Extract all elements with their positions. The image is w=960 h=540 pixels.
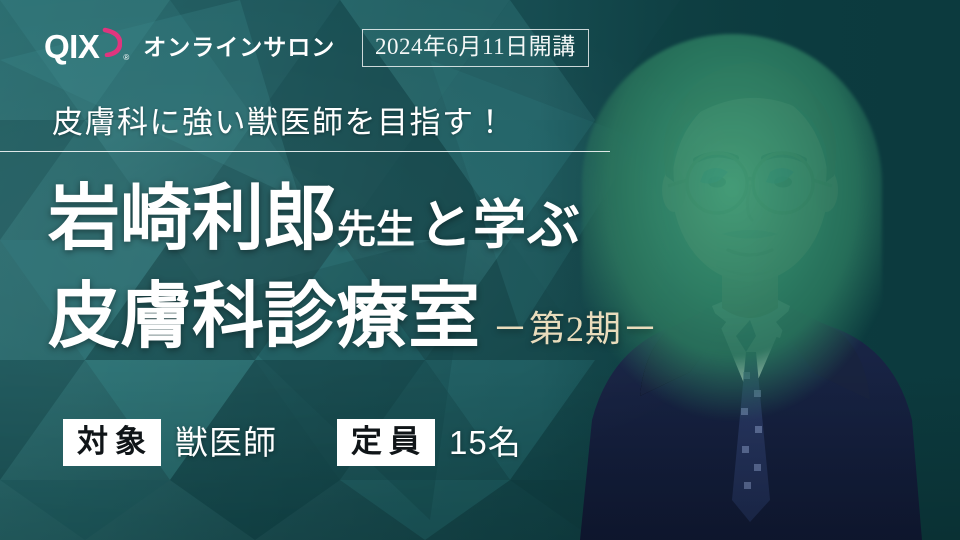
promo-banner: QIX ® オンラインサロン 2024年6月11日開講 皮膚科に強い獣医師を目指… (0, 0, 960, 540)
sub-headline: 皮膚科に強い獣医師を目指す！ (52, 104, 507, 141)
start-date-badge: 2024年6月11日開講 (362, 29, 589, 67)
instructor-name: 岩崎利郎 (48, 183, 336, 255)
headline-with-learn: と学ぶ (419, 200, 581, 253)
headline-line-2: 皮膚科診療室 －第2期－ (48, 281, 659, 353)
registered-mark-icon: ® (123, 54, 129, 62)
course-info-row: 対象 獣医師 定員 15名 (63, 419, 522, 466)
info-value-capacity: 15名 (449, 426, 522, 459)
course-term: －第2期－ (492, 311, 659, 347)
instructor-honorific: 先生 (337, 211, 415, 250)
course-title: 皮膚科診療室 (48, 281, 480, 353)
brand-header: QIX ® オンラインサロン (44, 27, 335, 63)
qix-arc-icon (100, 27, 122, 61)
headline-line-1: 岩崎利郎 先生 と学ぶ (48, 183, 581, 255)
info-item-target: 対象 獣医師 (63, 419, 277, 466)
info-item-capacity: 定員 15名 (337, 419, 522, 466)
program-type-label: オンラインサロン (143, 28, 335, 62)
info-label-target: 対象 (63, 419, 161, 466)
info-value-target: 獣医師 (175, 426, 277, 459)
info-label-capacity: 定員 (337, 419, 435, 466)
qix-logo[interactable]: QIX ® (44, 27, 129, 63)
sub-headline-rule (0, 151, 610, 152)
qix-wordmark: QIX (44, 30, 99, 63)
